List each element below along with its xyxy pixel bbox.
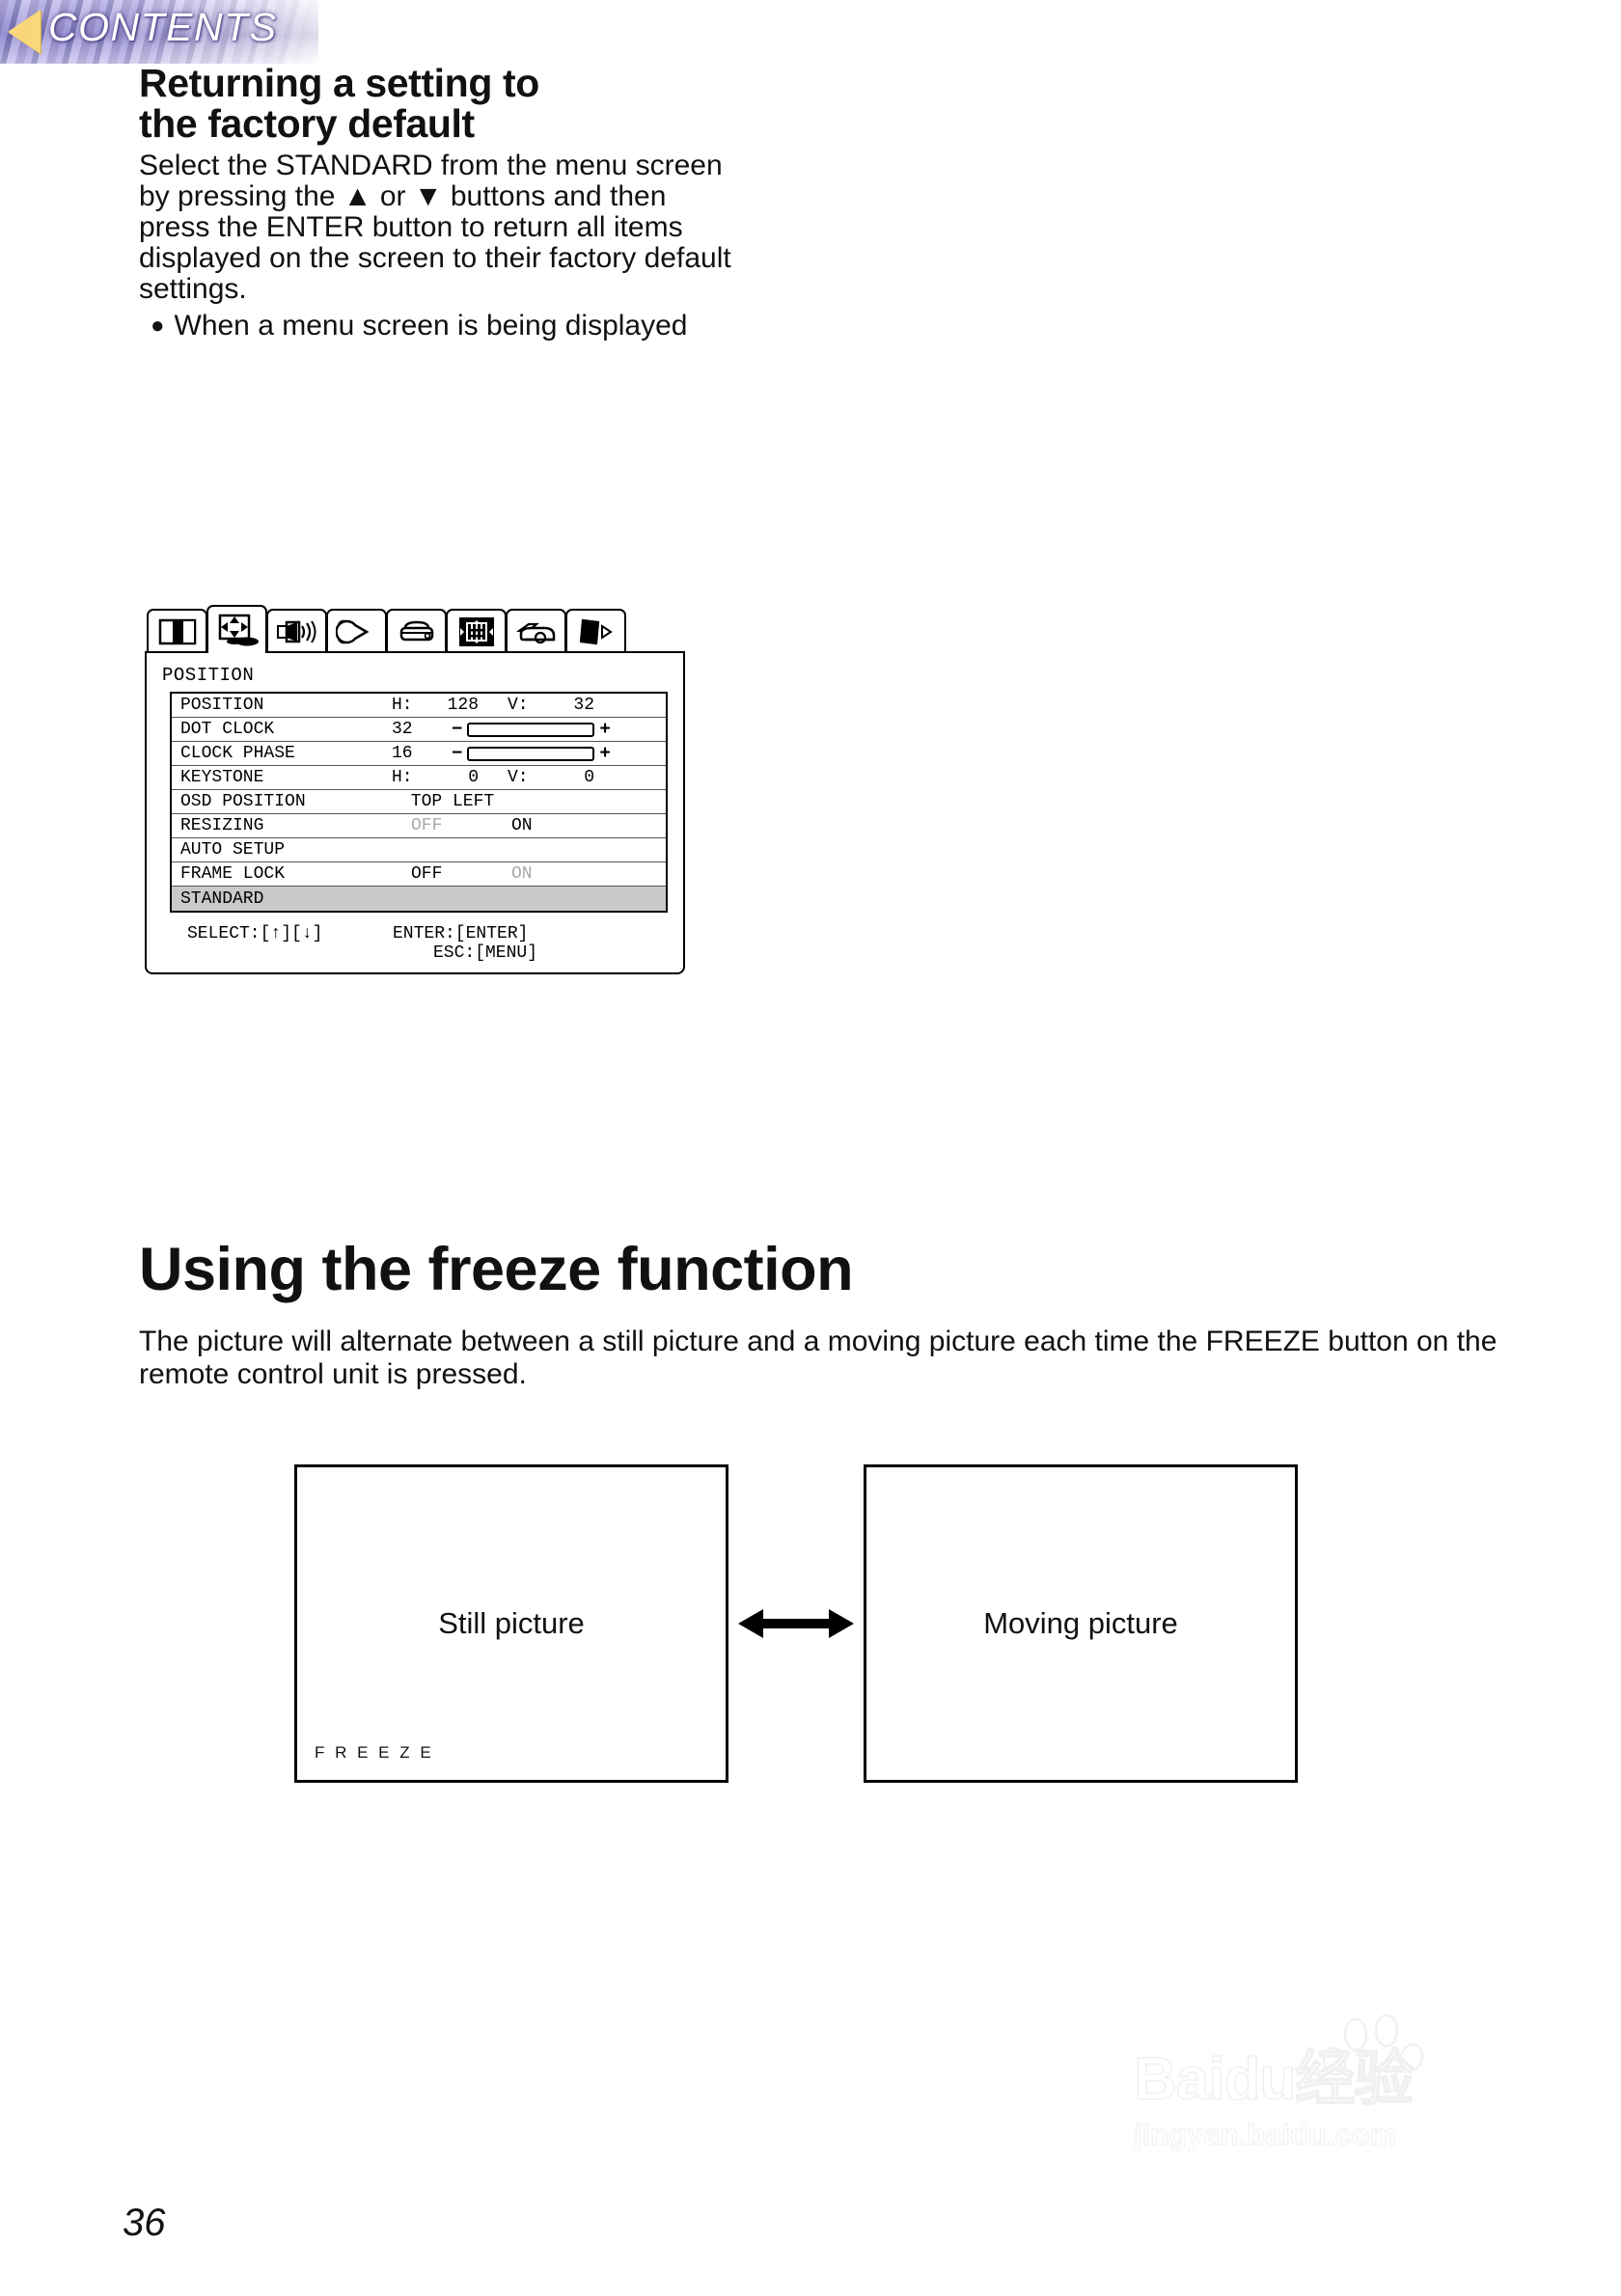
still-picture-box: Still picture F R E E Z E bbox=[294, 1464, 728, 1783]
test-pattern-icon bbox=[459, 617, 494, 646]
picture-contrast-icon bbox=[158, 618, 197, 645]
osd-tab-language[interactable] bbox=[326, 609, 387, 653]
moving-picture-box: Moving picture bbox=[864, 1464, 1298, 1783]
osd-v-key: V: bbox=[508, 768, 529, 787]
clock-phase-slider[interactable]: − + bbox=[452, 743, 611, 764]
osd-menu-title: POSITION bbox=[147, 661, 683, 692]
osd-row-keystone[interactable]: KEYSTONE H: 0 V: 0 bbox=[172, 766, 666, 790]
osd-esc-hint: ESC:[MENU] bbox=[147, 943, 537, 963]
osd-h-key: H: bbox=[392, 696, 413, 715]
slider-track[interactable] bbox=[467, 723, 594, 737]
section-heading: Returning a setting to the factory defau… bbox=[139, 64, 737, 145]
osd-tab-audio[interactable] bbox=[266, 609, 327, 653]
dot-clock-slider[interactable]: − + bbox=[452, 719, 611, 740]
section-heading-line2: the factory default bbox=[139, 101, 475, 146]
baidu-logo-text: Baidu经验 bbox=[1134, 2050, 1539, 2110]
osd-footer-line1: SELECT:[↑][↓] ENTER:[ENTER] bbox=[147, 924, 683, 943]
osd-row-osd-position[interactable]: OSD POSITION TOP LEFT bbox=[172, 790, 666, 814]
osd-row-label: RESIZING bbox=[172, 816, 263, 835]
osd-row-label: CLOCK PHASE bbox=[172, 744, 295, 763]
osd-row-resizing[interactable]: RESIZING OFF ON bbox=[172, 814, 666, 838]
language-speech-icon bbox=[336, 618, 378, 645]
osd-row-value: 16 bbox=[392, 744, 430, 763]
osd-row-value: TOP LEFT bbox=[172, 792, 666, 811]
osd-tab-option[interactable] bbox=[386, 609, 447, 653]
slider-plus-icon[interactable]: + bbox=[599, 719, 610, 740]
slider-minus-icon[interactable]: − bbox=[452, 743, 462, 764]
osd-h-key: H: bbox=[392, 768, 413, 787]
osd-tab-signal[interactable] bbox=[565, 609, 626, 653]
osd-h-value: 128 bbox=[434, 696, 479, 715]
slider-plus-icon[interactable]: + bbox=[599, 743, 610, 764]
osd-tab-test-pattern[interactable] bbox=[446, 609, 507, 653]
baidu-paw-icon bbox=[1323, 2013, 1439, 2095]
bullet-label: When a menu screen is being displayed bbox=[175, 311, 688, 342]
position-arrows-icon bbox=[215, 613, 260, 647]
freeze-heading: Using the freeze function bbox=[139, 1235, 1509, 1304]
osd-v-value: 0 bbox=[550, 768, 594, 787]
audio-speaker-icon bbox=[276, 618, 318, 645]
osd-row-value: 32 bbox=[392, 720, 430, 739]
osd-v-key: V: bbox=[508, 696, 529, 715]
arrow-container bbox=[728, 1604, 864, 1643]
baidu-watermark: Baidu经验 jingyan.baidu.com bbox=[1134, 2050, 1539, 2219]
osd-option-on[interactable]: ON bbox=[511, 864, 533, 884]
osd-row-label: KEYSTONE bbox=[172, 768, 263, 787]
moving-picture-label: Moving picture bbox=[866, 1606, 1295, 1641]
osd-option-on[interactable]: ON bbox=[511, 816, 533, 835]
bullet-item: ● When a menu screen is being displayed bbox=[139, 311, 737, 342]
osd-option-off[interactable]: OFF bbox=[411, 816, 442, 835]
baidu-logo-latin: Baidu bbox=[1134, 2046, 1295, 2113]
osd-row-label: DOT CLOCK bbox=[172, 720, 274, 739]
osd-row-label: FRAME LOCK bbox=[172, 864, 285, 884]
osd-row-label: AUTO SETUP bbox=[172, 840, 285, 860]
osd-row-label: STANDARD bbox=[172, 889, 263, 909]
osd-row-position[interactable]: POSITION H: 128 V: 32 bbox=[172, 694, 666, 718]
slider-track[interactable] bbox=[467, 747, 594, 761]
osd-footer: SELECT:[↑][↓] ENTER:[ENTER] ESC:[MENU] bbox=[147, 924, 683, 963]
contents-label: CONTENTS bbox=[48, 5, 278, 50]
back-triangle-icon[interactable] bbox=[8, 10, 41, 54]
osd-panel: POSITION POSITION H: 128 V: 32 DOT CLOCK… bbox=[145, 651, 685, 974]
osd-row-dot-clock[interactable]: DOT CLOCK 32 − + bbox=[172, 718, 666, 742]
osd-row-standard[interactable]: STANDARD bbox=[172, 887, 666, 911]
signal-page-icon bbox=[577, 617, 616, 646]
osd-h-value: 0 bbox=[434, 768, 479, 787]
freeze-section: Using the freeze function The picture wi… bbox=[139, 1235, 1509, 1390]
osd-enter-hint: ENTER:[ENTER] bbox=[393, 924, 528, 943]
osd-option-off[interactable]: OFF bbox=[411, 864, 442, 884]
osd-v-value: 32 bbox=[550, 696, 594, 715]
osd-footer-line2: ESC:[MENU] bbox=[147, 943, 683, 963]
still-picture-label: Still picture bbox=[297, 1606, 726, 1641]
osd-tab-projector-setup[interactable] bbox=[506, 609, 566, 653]
freeze-diagram: Still picture F R E E Z E Moving picture bbox=[294, 1464, 1298, 1783]
osd-row-frame-lock[interactable]: FRAME LOCK OFF ON bbox=[172, 862, 666, 887]
section-paragraph: Select the STANDARD from the menu screen… bbox=[139, 150, 737, 305]
osd-menu-figure: POSITION POSITION H: 128 V: 32 DOT CLOCK… bbox=[145, 605, 685, 974]
freeze-paragraph: The picture will alternate between a sti… bbox=[139, 1326, 1509, 1390]
option-lamp-icon bbox=[396, 618, 438, 645]
factory-default-section: Returning a setting to the factory defau… bbox=[139, 64, 737, 342]
osd-row-clock-phase[interactable]: CLOCK PHASE 16 − + bbox=[172, 742, 666, 766]
slider-minus-icon[interactable]: − bbox=[452, 719, 462, 740]
baidu-watermark-url: jingyan.baidu.com bbox=[1134, 2118, 1539, 2152]
contents-banner[interactable]: CONTENTS bbox=[0, 0, 318, 64]
double-headed-arrow-icon bbox=[738, 1604, 854, 1643]
osd-tab-bar bbox=[147, 605, 685, 653]
osd-item-list: POSITION H: 128 V: 32 DOT CLOCK 32 − + bbox=[170, 692, 668, 913]
bullet-dot-icon: ● bbox=[151, 311, 165, 342]
osd-tab-picture[interactable] bbox=[147, 609, 207, 653]
freeze-osd-tag: F R E E Z E bbox=[315, 1743, 434, 1763]
osd-tab-position[interactable] bbox=[206, 605, 267, 653]
osd-row-auto-setup[interactable]: AUTO SETUP bbox=[172, 838, 666, 862]
osd-row-label: POSITION bbox=[172, 696, 263, 715]
baidu-logo-cn: 经验 bbox=[1295, 2046, 1413, 2113]
osd-select-hint: SELECT:[↑][↓] bbox=[147, 924, 393, 943]
section-heading-line1: Returning a setting to bbox=[139, 61, 539, 105]
page-number: 36 bbox=[123, 2201, 166, 2245]
projector-setup-icon bbox=[515, 618, 558, 645]
